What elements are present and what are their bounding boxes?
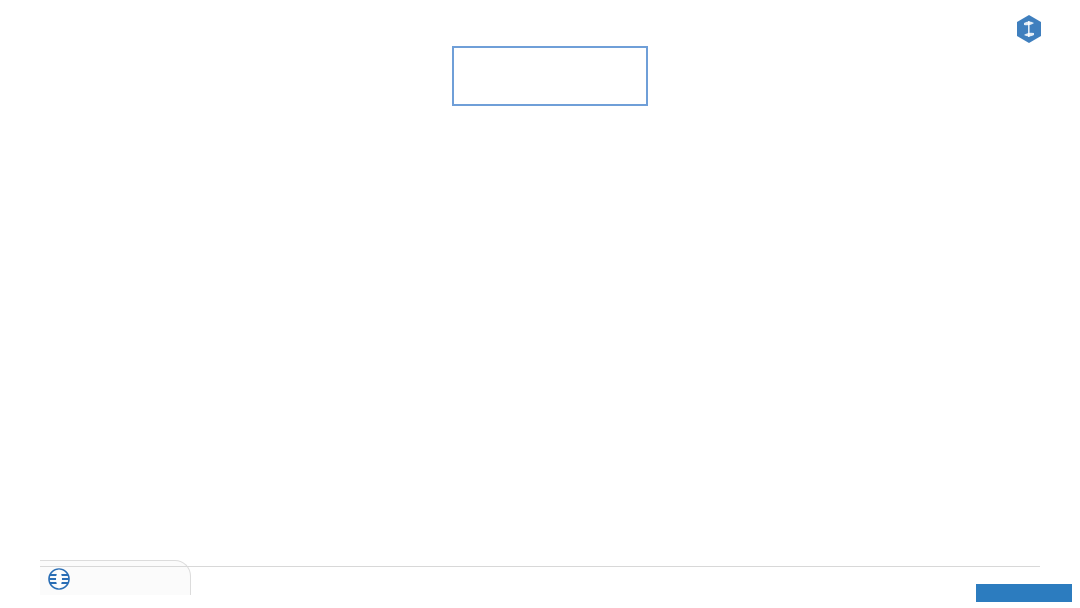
footer-logo [46, 566, 74, 597]
idc-hexagon-logo-icon [1015, 14, 1043, 44]
footer-divider [40, 566, 1040, 567]
brand-logo [1015, 14, 1054, 44]
corner-accent-bar [976, 584, 1072, 602]
page-title [452, 46, 648, 106]
idc-globe-icon [46, 566, 72, 597]
